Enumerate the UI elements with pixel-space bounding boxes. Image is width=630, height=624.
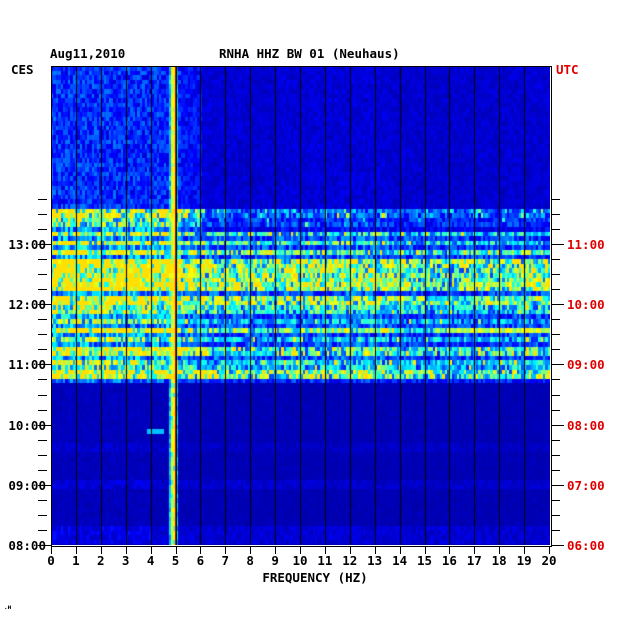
frequency-label: 9 (271, 553, 279, 568)
left-tick (38, 379, 47, 380)
left-tick (38, 334, 47, 335)
right-tick (551, 319, 560, 320)
left-tick (38, 274, 47, 275)
right-tick (551, 214, 560, 215)
right-time-label: 06:00 (567, 538, 605, 553)
frequency-label: 3 (122, 553, 130, 568)
frequency-label: 10 (292, 553, 307, 568)
left-tick (38, 214, 47, 215)
left-tick (38, 515, 47, 516)
frequency-label: 15 (417, 553, 432, 568)
frequency-label: 6 (197, 553, 205, 568)
right-time-label: 07:00 (567, 478, 605, 493)
left-time-label: 11:00 (0, 357, 46, 372)
right-tick (551, 440, 560, 441)
frequency-label: 0 (47, 553, 55, 568)
spectrogram-page: Aug11,2010 RNHA HHZ BW 01 (Neuhaus) CES … (0, 0, 630, 624)
right-axis-label: UTC (556, 62, 579, 77)
plot-station-title: RNHA HHZ BW 01 (Neuhaus) (219, 46, 400, 61)
left-tick (38, 500, 47, 501)
left-tick (38, 199, 47, 200)
right-tick (551, 515, 560, 516)
frequency-label: 17 (467, 553, 482, 568)
frequency-label: 19 (517, 553, 532, 568)
left-axis-label: CES (11, 62, 34, 77)
frequency-label: 2 (97, 553, 105, 568)
frequency-label: 14 (392, 553, 407, 568)
right-tick (551, 395, 560, 396)
frequency-label: 7 (222, 553, 230, 568)
left-tick (38, 259, 47, 260)
frequency-label: 12 (342, 553, 357, 568)
right-tick (551, 289, 560, 290)
frequency-label: 18 (492, 553, 507, 568)
right-tick (551, 455, 560, 456)
right-tick (551, 259, 560, 260)
frequency-label: 4 (147, 553, 155, 568)
left-tick (38, 530, 47, 531)
left-tick (38, 229, 47, 230)
frequency-label: 16 (442, 553, 457, 568)
right-tick (551, 530, 560, 531)
left-time-label: 08:00 (0, 538, 46, 553)
left-tick (38, 319, 47, 320)
frequency-label: 8 (246, 553, 254, 568)
spectrogram-canvas (51, 66, 550, 545)
frequency-label: 20 (541, 553, 556, 568)
frequency-label: 1 (72, 553, 80, 568)
right-tick (551, 244, 564, 245)
right-tick (551, 425, 564, 426)
right-tick (551, 500, 560, 501)
left-time-label: 09:00 (0, 478, 46, 493)
frequency-label: 11 (317, 553, 332, 568)
left-tick (38, 349, 47, 350)
left-time-label: 13:00 (0, 237, 46, 252)
left-tick (38, 395, 47, 396)
spectrogram-plot-area[interactable] (51, 66, 550, 545)
left-time-label: 12:00 (0, 297, 46, 312)
left-tick (38, 289, 47, 290)
right-tick (551, 410, 560, 411)
frequency-label: 13 (367, 553, 382, 568)
right-time-label: 08:00 (567, 418, 605, 433)
plot-date-title: Aug11,2010 (50, 46, 125, 61)
right-time-label: 09:00 (567, 357, 605, 372)
right-tick (551, 364, 564, 365)
left-tick (38, 410, 47, 411)
corner-mark: .ʜ (4, 604, 11, 611)
left-tick (38, 455, 47, 456)
left-tick (38, 470, 47, 471)
right-time-label: 11:00 (567, 237, 605, 252)
left-time-label: 10:00 (0, 418, 46, 433)
xaxis-title: FREQUENCY (HZ) (0, 570, 630, 585)
right-tick (551, 379, 560, 380)
right-tick (551, 545, 564, 546)
right-tick (551, 470, 560, 471)
right-tick (551, 349, 560, 350)
right-tick (551, 334, 560, 335)
right-tick (551, 274, 560, 275)
left-tick (38, 440, 47, 441)
right-tick (551, 229, 560, 230)
frequency-label: 5 (172, 553, 180, 568)
right-tick (551, 304, 564, 305)
right-tick (551, 199, 560, 200)
right-time-label: 10:00 (567, 297, 605, 312)
right-tick (551, 485, 564, 486)
